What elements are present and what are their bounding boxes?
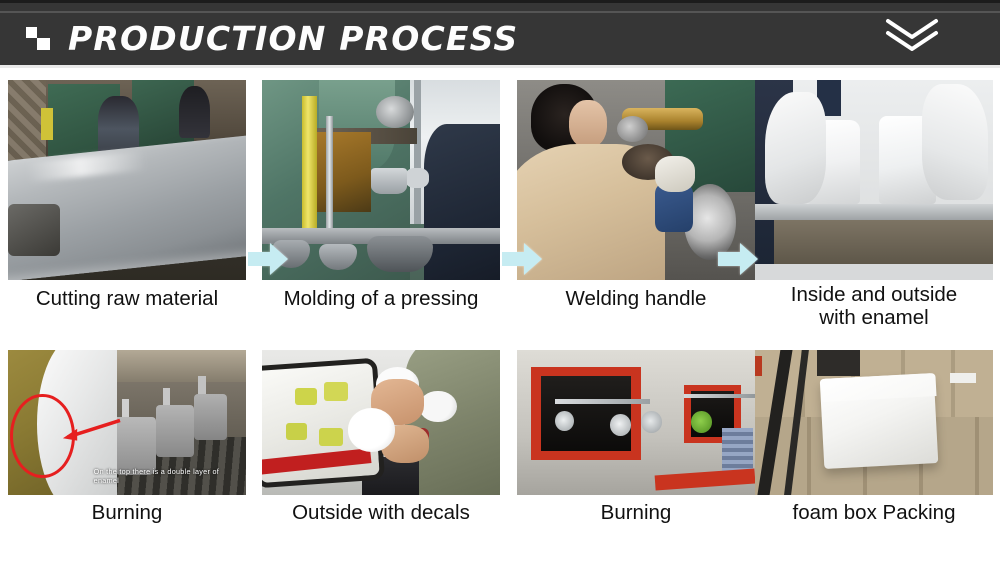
step-2-image[interactable]	[262, 80, 500, 280]
step-5-overlay-text: On the top there is a double layer of en…	[94, 466, 246, 486]
double-chevron-down-icon[interactable]	[884, 17, 940, 51]
section-header-banner: PRODUCTION PROCESS	[0, 0, 1000, 68]
red-arrow-annotation	[51, 414, 122, 446]
right-arrow-icon	[248, 242, 288, 276]
step-7-caption: Burning	[517, 502, 755, 525]
process-steps-grid: Cutting raw material Molding of a pressi…	[0, 68, 1000, 573]
process-step-8[interactable]: foam box Packing	[755, 350, 993, 495]
process-step-1[interactable]: Cutting raw material	[8, 80, 246, 280]
process-row-2: On the top there is a double layer of en…	[0, 350, 1000, 573]
right-arrow-icon	[502, 242, 542, 276]
process-row-1: Cutting raw material Molding of a pressi…	[0, 80, 1000, 330]
step-1-caption: Cutting raw material	[8, 288, 246, 311]
production-process-page: PRODUCTION PROCESS Cutting raw material	[0, 0, 1000, 573]
process-step-6[interactable]: Outside with decals	[262, 350, 500, 495]
right-arrow-icon	[718, 242, 758, 276]
square-blocks-icon	[26, 27, 52, 49]
step-2-caption: Molding of a pressing	[262, 288, 500, 311]
banner-inner: PRODUCTION PROCESS	[0, 11, 1000, 63]
step-1-image[interactable]	[8, 80, 246, 280]
step-6-caption: Outside with decals	[262, 502, 500, 525]
step-7-image[interactable]	[517, 350, 755, 495]
step-3-caption: Welding handle	[517, 288, 755, 311]
process-step-4[interactable]: Inside and outside with enamel	[755, 80, 993, 280]
step-5-image[interactable]: On the top there is a double layer of en…	[8, 350, 246, 495]
page-title: PRODUCTION PROCESS	[68, 19, 518, 58]
process-step-2[interactable]: Molding of a pressing	[262, 80, 500, 280]
step-4-caption: Inside and outside with enamel	[755, 284, 993, 330]
step-4-image[interactable]	[755, 80, 993, 280]
step-6-image[interactable]	[262, 350, 500, 495]
step-8-image[interactable]	[755, 350, 993, 495]
step-8-caption: foam box Packing	[755, 502, 993, 525]
process-step-5[interactable]: On the top there is a double layer of en…	[8, 350, 246, 495]
process-step-7[interactable]: Burning	[517, 350, 755, 495]
step-5-caption: Burning	[8, 502, 246, 525]
